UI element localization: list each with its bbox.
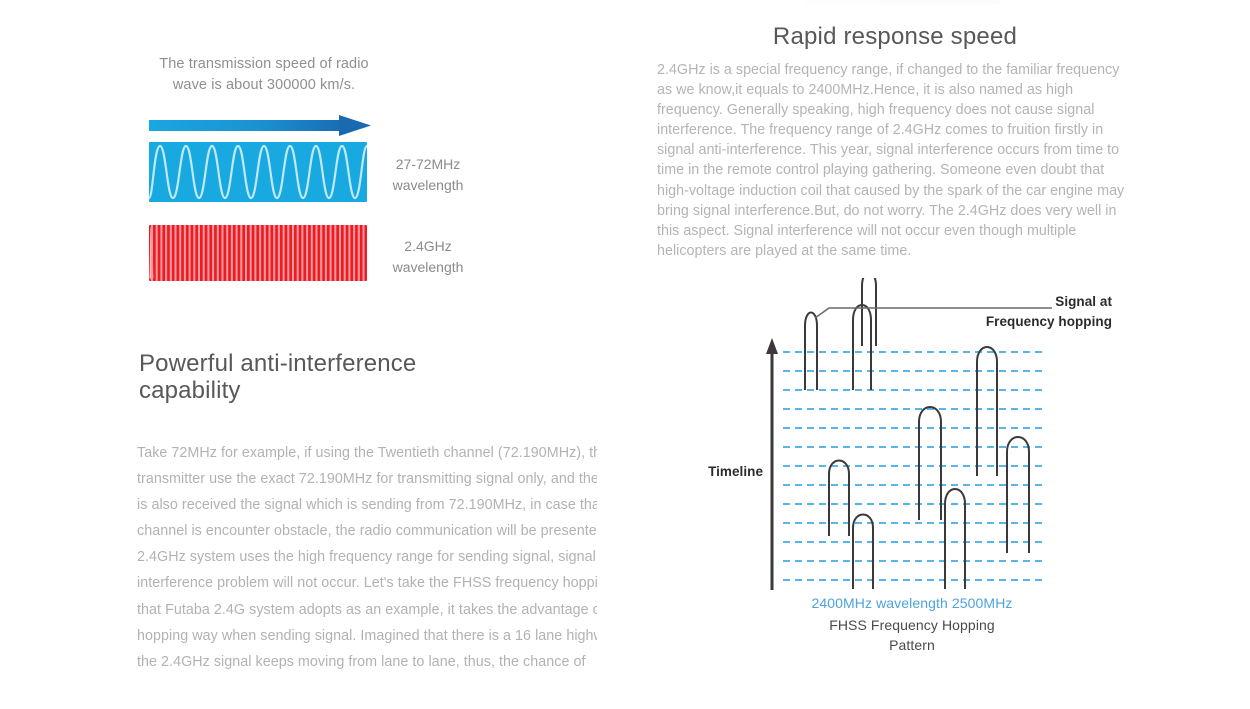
rapid-response-body: 2.4GHz is a special frequency range, if … <box>657 60 1133 261</box>
wavelength-figure: 27-72MHz wavelength 2.4GHz wavelength <box>141 108 491 288</box>
blue-band-label-line1: 27-72MHz <box>373 154 483 175</box>
fhss-caption: FHSS Frequency Hopping Pattern <box>762 615 1062 655</box>
fhss-caption-line1: FHSS Frequency Hopping <box>762 615 1062 635</box>
rapid-response-heading: Rapid response speed <box>657 22 1133 52</box>
red-frequency-band <box>149 225 367 281</box>
blue-frequency-band <box>149 142 367 202</box>
top-partial-strip-inner <box>880 0 1000 4</box>
red-band-label-line1: 2.4GHz <box>373 236 483 257</box>
anti-interference-heading: Powerful anti-interference capability <box>139 351 469 405</box>
radio-speed-caption: The transmission speed of radio wave is … <box>141 54 387 96</box>
fhss-timeline-label: Timeline <box>683 464 763 479</box>
fhss-diagram: Signal at Frequency hopping Timeline 240… <box>657 278 1137 658</box>
anti-interference-body-clip: Take 72MHz for example, if using the Twe… <box>137 440 597 709</box>
fhss-caption-line2: Pattern <box>762 635 1062 655</box>
page-root: The transmission speed of radio wave is … <box>0 0 1250 709</box>
red-band-label: 2.4GHz wavelength <box>373 236 483 278</box>
fhss-axis-range-label: 2400MHz wavelength 2500MHz <box>762 595 1062 611</box>
blue-band-label: 27-72MHz wavelength <box>373 154 483 196</box>
blue-band-label-line2: wavelength <box>373 175 483 196</box>
fhss-callout-line1: Signal at <box>912 292 1112 312</box>
timeline-axis <box>766 338 778 590</box>
speed-arrow-icon <box>149 114 371 138</box>
fhss-callout-line2: Frequency hopping <box>912 312 1112 332</box>
red-band-label-line2: wavelength <box>373 257 483 278</box>
fhss-callout-label: Signal at Frequency hopping <box>912 292 1112 332</box>
anti-interference-body: Take 72MHz for example, if using the Twe… <box>137 440 597 675</box>
